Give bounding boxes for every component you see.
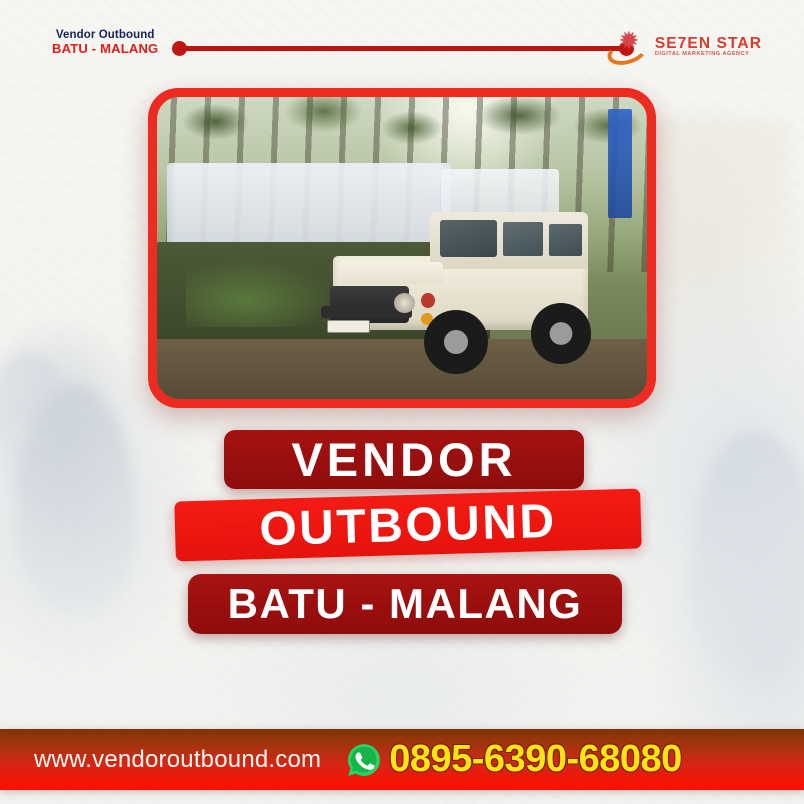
jeep-hood [339, 262, 442, 284]
logo-text: SE7EN STAR DIGITAL MARKETING AGENCY [655, 36, 762, 58]
jeep-rear-wheel [531, 303, 592, 364]
logo-mark: ✹ [606, 28, 650, 66]
jeep-side-window-2 [549, 224, 582, 256]
jeep-license-plate [327, 320, 370, 334]
background-silhouette-right [690, 430, 804, 680]
hero-photo-frame [148, 88, 656, 408]
background-silhouette-wall [640, 120, 790, 310]
divider-line [180, 46, 626, 51]
header: Vendor Outbound BATU - MALANG ✹ SE7EN ST… [0, 0, 804, 86]
photo-blue-banner [608, 109, 633, 218]
photo-jeep [309, 212, 613, 381]
star-icon: ✹ [617, 29, 641, 53]
brand-block: Vendor Outbound BATU - MALANG [52, 29, 158, 56]
jeep-front-wheel [424, 310, 488, 374]
logo-name: SE7EN STAR [655, 36, 762, 52]
footer-contact-bar: www.vendoroutbound.com 0895-6390-68080 [0, 729, 804, 790]
website-url[interactable]: www.vendoroutbound.com [34, 746, 321, 774]
whatsapp-icon[interactable] [347, 743, 381, 777]
jeep-windshield [440, 220, 498, 257]
poster-canvas: Vendor Outbound BATU - MALANG ✹ SE7EN ST… [0, 0, 804, 804]
whatsapp-phone-number[interactable]: 0895-6390-68080 [389, 738, 682, 781]
background-silhouette-left-head [0, 352, 68, 448]
brand-name-line1: Vendor Outbound [52, 29, 158, 42]
logo-tagline: DIGITAL MARKETING AGENCY [655, 52, 762, 58]
background-silhouette-left [16, 385, 136, 615]
title-banner-location: BATU - MALANG [188, 574, 622, 634]
hero-photo [157, 97, 647, 399]
jeep-tail-lamp [421, 293, 435, 308]
title-banner-vendor: VENDOR [224, 430, 584, 489]
title-banner-outbound: OUTBOUND [174, 489, 641, 562]
agency-logo: ✹ SE7EN STAR DIGITAL MARKETING AGENCY [606, 28, 762, 66]
brand-name-line2: BATU - MALANG [52, 42, 158, 57]
header-divider [172, 40, 634, 58]
jeep-side-window-1 [503, 222, 542, 256]
